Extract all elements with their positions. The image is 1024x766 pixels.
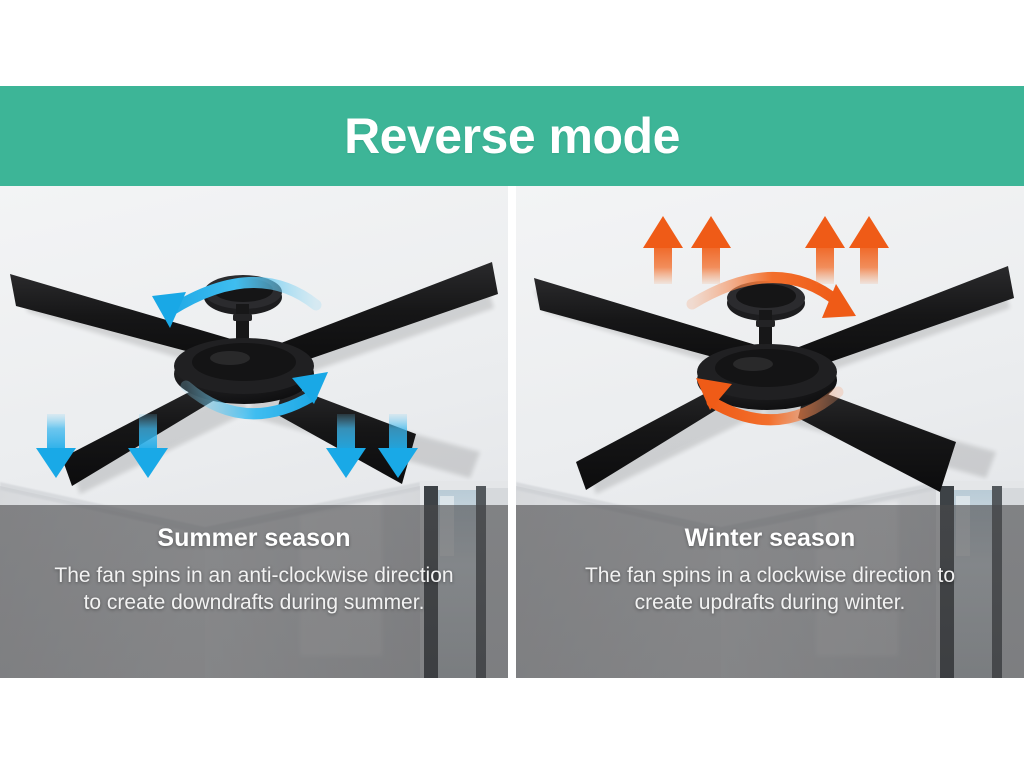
summer-room-illustration [0,186,508,678]
window-assembly [936,481,1024,678]
reverse-mode-banner: Reverse mode [0,86,1024,186]
top-white-margin [0,0,1024,86]
window-assembly [420,481,508,678]
fan-downrod [236,304,249,342]
fan-downrod [759,310,772,348]
product-infographic: Reverse mode [0,0,1024,766]
wall-light-pool [300,501,382,656]
banner-title: Reverse mode [344,111,680,161]
summer-panel: Summer season The fan spins in an anti-c… [0,186,508,678]
winter-panel: Winter season The fan spins in a clockwi… [516,186,1024,678]
wall-light-pool [816,501,898,656]
winter-room-illustration [516,186,1024,678]
bottom-white-margin [0,678,1024,766]
panel-divider [508,186,516,678]
comparison-panels: Summer season The fan spins in an anti-c… [0,186,1024,678]
